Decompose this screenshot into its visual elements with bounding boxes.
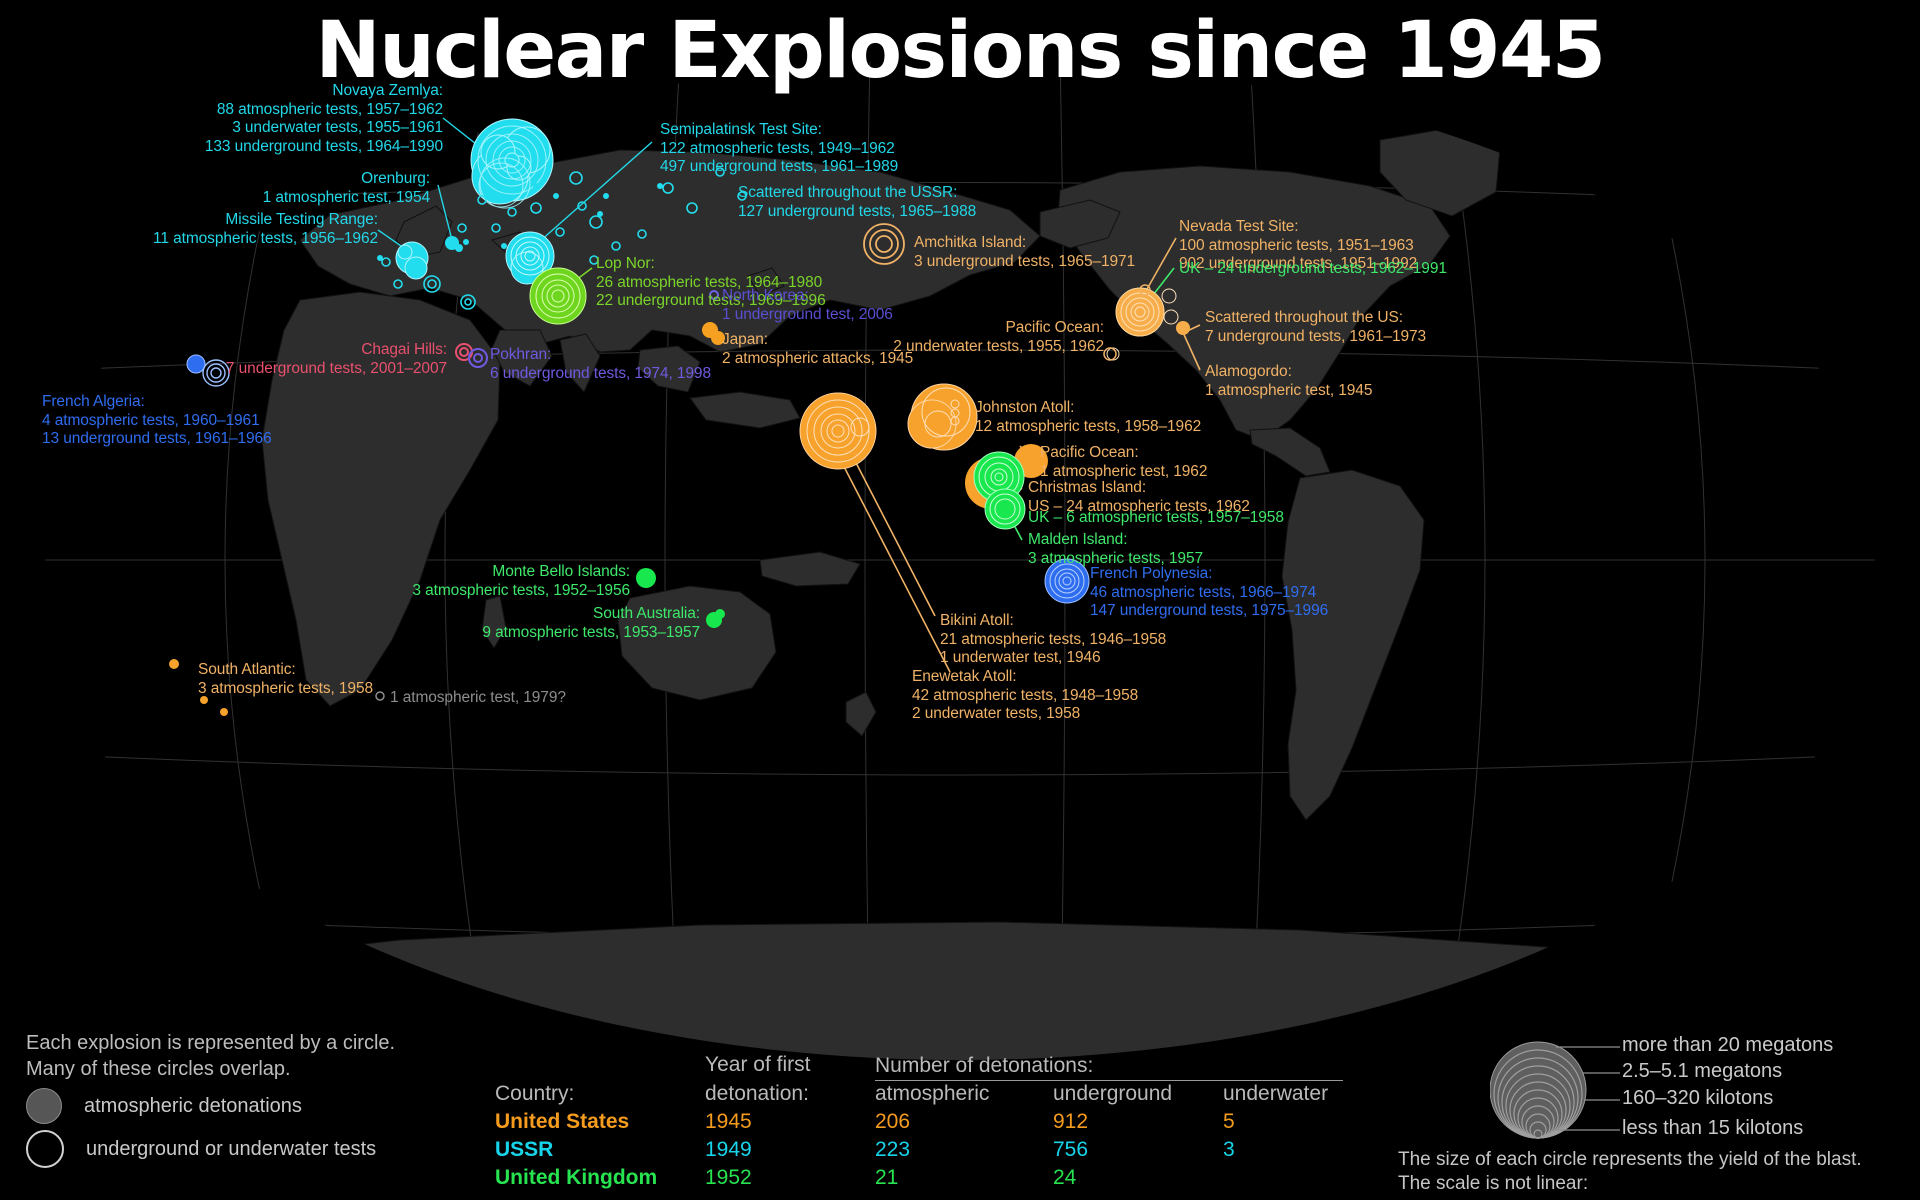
yield-label-0: more than 20 megatons <box>1622 1034 1833 1057</box>
map-label-line: 1 underwater test, 1946 <box>940 649 1166 668</box>
map-label-christmas-island-uk: UK – 6 atmospheric tests, 1957–1958 <box>1028 509 1284 528</box>
map-label-bikini-atoll: Bikini Atoll:21 atmospheric tests, 1946–… <box>940 612 1166 668</box>
map-label-vela-incident: 1 atmospheric test, 1979? <box>390 689 566 708</box>
detonations-table: Year of first Number of detonations: Cou… <box>495 1052 1343 1193</box>
map-label-line: 7 underground tests, 1961–1973 <box>1205 328 1426 347</box>
map-label-line: 2 underwater tests, 1955, 1962 <box>893 338 1104 357</box>
map-label-line: Pacific Ocean: <box>1040 444 1207 463</box>
map-label-line: 7 underground tests, 2001–2007 <box>226 360 447 379</box>
map-label-orenburg: Orenburg:1 atmospheric test, 1954 <box>263 170 430 207</box>
map-label-line: 1 atmospheric test, 1954 <box>263 189 430 208</box>
map-label-line: 11 atmospheric tests, 1956–1962 <box>153 230 378 249</box>
scale-note-line2: The scale is not linear: <box>1398 1172 1862 1196</box>
map-label-line: Alamogordo: <box>1205 363 1372 382</box>
map-label-line: Amchitka Island: <box>914 234 1135 253</box>
map-label-line: Missile Testing Range: <box>153 211 378 230</box>
map-label-south-australia: South Australia:9 atmospheric tests, 195… <box>482 605 700 642</box>
table-cell-year: 1949 <box>705 1137 875 1165</box>
map-label-line: 3 underground tests, 1965–1971 <box>914 253 1135 272</box>
country-header: Country: <box>495 1080 705 1109</box>
underwater-header: underwater <box>1223 1080 1343 1109</box>
table-cell-underwater <box>1223 1165 1343 1193</box>
map-label-line: 12 atmospheric tests, 1958–1962 <box>975 418 1201 437</box>
map-label-line: 46 atmospheric tests, 1966–1974 <box>1090 584 1328 603</box>
map-label-line: 6 underground tests, 1974, 1998 <box>490 365 711 384</box>
map-label-line: 42 atmospheric tests, 1948–1958 <box>912 687 1138 706</box>
table-body: United States19452069125USSR19492237563U… <box>495 1109 1343 1193</box>
table-header-row-2: Country: detonation: atmospheric undergr… <box>495 1080 1343 1109</box>
table-cell-year: 1952 <box>705 1165 875 1193</box>
map-label-line: French Algeria: <box>42 393 272 412</box>
map-label-line: Enewetak Atoll: <box>912 668 1138 687</box>
table-cell-atmospheric: 206 <box>875 1109 1053 1137</box>
table-cell-underwater: 5 <box>1223 1109 1343 1137</box>
map-label-nevada-uk: UK – 24 underground tests, 1962–1991 <box>1179 260 1447 279</box>
legend-underground-row: underground or underwater tests <box>26 1130 395 1168</box>
filled-circle-icon <box>26 1088 62 1124</box>
table: Year of first Number of detonations: Cou… <box>495 1052 1343 1193</box>
map-label-line: Scattered throughout the US: <box>1205 309 1426 328</box>
table-cell-year: 1945 <box>705 1109 875 1137</box>
map-label-line: 2 underwater tests, 1958 <box>912 705 1138 724</box>
table-cell-country: United States <box>495 1109 705 1137</box>
map-label-line: UK – 24 underground tests, 1962–1991 <box>1179 260 1447 279</box>
table-cell-underground: 756 <box>1053 1137 1223 1165</box>
map-label-line: Johnston Atoll: <box>975 399 1201 418</box>
map-label-line: 497 underground tests, 1961–1989 <box>660 158 898 177</box>
table-cell-underground: 912 <box>1053 1109 1223 1137</box>
map-label-line: 3 atmospheric tests, 1958 <box>198 680 373 699</box>
map-label-line: South Atlantic: <box>198 661 373 680</box>
map-label-line: 100 atmospheric tests, 1951–1963 <box>1179 237 1417 256</box>
map-label-novaya-zemlya: Novaya Zemlya:88 atmospheric tests, 1957… <box>205 82 443 156</box>
map-label-pacific-ocean-2: Pacific Ocean:2 underwater tests, 1955, … <box>893 319 1104 356</box>
map-label-line: 1 atmospheric test, 1945 <box>1205 382 1372 401</box>
map-label-line: Semipalatinsk Test Site: <box>660 121 898 140</box>
year-header-line2: detonation: <box>705 1080 875 1109</box>
map-label-line: Orenburg: <box>263 170 430 189</box>
infographic-canvas: Nuclear Explosions since 1945 Novaya Zem… <box>0 0 1920 1200</box>
map-label-line: Monte Bello Islands: <box>412 563 630 582</box>
map-label-line: 1 atmospheric test, 1979? <box>390 689 566 708</box>
table-header-row-1: Year of first Number of detonations: <box>495 1052 1343 1080</box>
year-header-line1: Year of first <box>705 1052 875 1080</box>
legend-atmospheric-row: atmospheric detonations <box>26 1088 395 1124</box>
legend-underground-label: underground or underwater tests <box>86 1136 376 1162</box>
table-cell-underground: 24 <box>1053 1165 1223 1193</box>
map-label-scattered-ussr: Scattered throughout the USSR:127 underg… <box>738 184 976 221</box>
map-label-johnston-atoll: Johnston Atoll:12 atmospheric tests, 195… <box>975 399 1201 436</box>
scale-note-line1: The size of each circle represents the y… <box>1398 1148 1862 1172</box>
yield-label-3: less than 15 kilotons <box>1622 1117 1803 1140</box>
yield-scale-legend: more than 20 megatons 2.5–5.1 megatons 1… <box>1490 1020 1910 1165</box>
map-label-semipalatinsk: Semipalatinsk Test Site:122 atmospheric … <box>660 121 898 177</box>
circle-legend: Each explosion is represented by a circl… <box>26 1030 395 1168</box>
map-label-line: 21 atmospheric tests, 1946–1958 <box>940 631 1166 650</box>
map-label-line: French Polynesia: <box>1090 565 1328 584</box>
table-row: USSR19492237563 <box>495 1137 1343 1165</box>
map-label-line: 3 atmospheric tests, 1952–1956 <box>412 582 630 601</box>
map-label-line: 9 atmospheric tests, 1953–1957 <box>482 624 700 643</box>
map-label-line: 88 atmospheric tests, 1957–1962 <box>205 101 443 120</box>
map-label-line: Pacific Ocean: <box>893 319 1104 338</box>
map-label-north-korea: North Korea:1 underground test, 2006 <box>722 287 893 324</box>
map-label-line: 2 atmospheric attacks, 1945 <box>722 350 913 369</box>
atmospheric-header: atmospheric <box>875 1080 1053 1109</box>
table-row: United Kingdom19522124 <box>495 1165 1343 1193</box>
map-label-line: Lop Nor: <box>596 255 826 274</box>
map-label-line: Novaya Zemlya: <box>205 82 443 101</box>
detonations-header: Number of detonations: <box>875 1052 1343 1080</box>
legend-note-line2: Many of these circles overlap. <box>26 1056 395 1082</box>
map-label-line: Pokhran: <box>490 346 711 365</box>
map-label-missile-testing-range: Missile Testing Range:11 atmospheric tes… <box>153 211 378 248</box>
open-circle-icon <box>26 1130 64 1168</box>
map-label-line: 13 underground tests, 1961–1966 <box>42 430 272 449</box>
table-cell-country: USSR <box>495 1137 705 1165</box>
map-label-line: 1 underground test, 2006 <box>722 306 893 325</box>
map-label-pacific-ocean-1: Pacific Ocean:1 atmospheric test, 1962 <box>1040 444 1207 481</box>
map-label-line: UK – 6 atmospheric tests, 1957–1958 <box>1028 509 1284 528</box>
map-label-line: Chagai Hills: <box>226 341 447 360</box>
map-label-french-algeria: French Algeria:4 atmospheric tests, 1960… <box>42 393 272 449</box>
map-label-scattered-us: Scattered throughout the US:7 undergroun… <box>1205 309 1426 346</box>
yield-label-2: 160–320 kilotons <box>1622 1087 1773 1110</box>
table-cell-country: United Kingdom <box>495 1165 705 1193</box>
table-cell-underwater: 3 <box>1223 1137 1343 1165</box>
map-label-amchitka-island: Amchitka Island:3 underground tests, 196… <box>914 234 1135 271</box>
map-label-japan: Japan:2 atmospheric attacks, 1945 <box>722 331 913 368</box>
table-cell-atmospheric: 21 <box>875 1165 1053 1193</box>
map-label-south-atlantic: South Atlantic:3 atmospheric tests, 1958 <box>198 661 373 698</box>
map-label-line: 127 underground tests, 1965–1988 <box>738 203 976 222</box>
map-label-line: North Korea: <box>722 287 893 306</box>
map-label-line: Malden Island: <box>1028 531 1203 550</box>
underground-header: underground <box>1053 1080 1223 1109</box>
map-label-enewetak-atoll: Enewetak Atoll:42 atmospheric tests, 194… <box>912 668 1138 724</box>
map-label-line: Bikini Atoll: <box>940 612 1166 631</box>
map-label-malden-island: Malden Island:3 atmospheric tests, 1957 <box>1028 531 1203 568</box>
legend-note-line1: Each explosion is represented by a circl… <box>26 1030 395 1056</box>
map-label-line: Christmas Island: <box>1028 479 1250 498</box>
table-cell-atmospheric: 223 <box>875 1137 1053 1165</box>
map-label-line: 133 underground tests, 1964–1990 <box>205 138 443 157</box>
map-label-monte-bello-islands: Monte Bello Islands:3 atmospheric tests,… <box>412 563 630 600</box>
map-label-alamogordo: Alamogordo:1 atmospheric test, 1945 <box>1205 363 1372 400</box>
map-label-line: Japan: <box>722 331 913 350</box>
map-label-pokhran: Pokhran:6 underground tests, 1974, 1998 <box>490 346 711 383</box>
map-label-chagai-hills: Chagai Hills:7 underground tests, 2001–2… <box>226 341 447 378</box>
table-row: United States19452069125 <box>495 1109 1343 1137</box>
yield-scale-note: The size of each circle represents the y… <box>1398 1148 1862 1196</box>
legend-atmospheric-label: atmospheric detonations <box>84 1093 302 1119</box>
yield-label-1: 2.5–5.1 megatons <box>1622 1060 1782 1083</box>
map-label-line: 4 atmospheric tests, 1960–1961 <box>42 412 272 431</box>
map-label-line: South Australia: <box>482 605 700 624</box>
map-label-line: Nevada Test Site: <box>1179 218 1417 237</box>
map-label-line: Scattered throughout the USSR: <box>738 184 976 203</box>
map-label-line: 3 underwater tests, 1955–1961 <box>205 119 443 138</box>
map-label-line: 122 atmospheric tests, 1949–1962 <box>660 140 898 159</box>
